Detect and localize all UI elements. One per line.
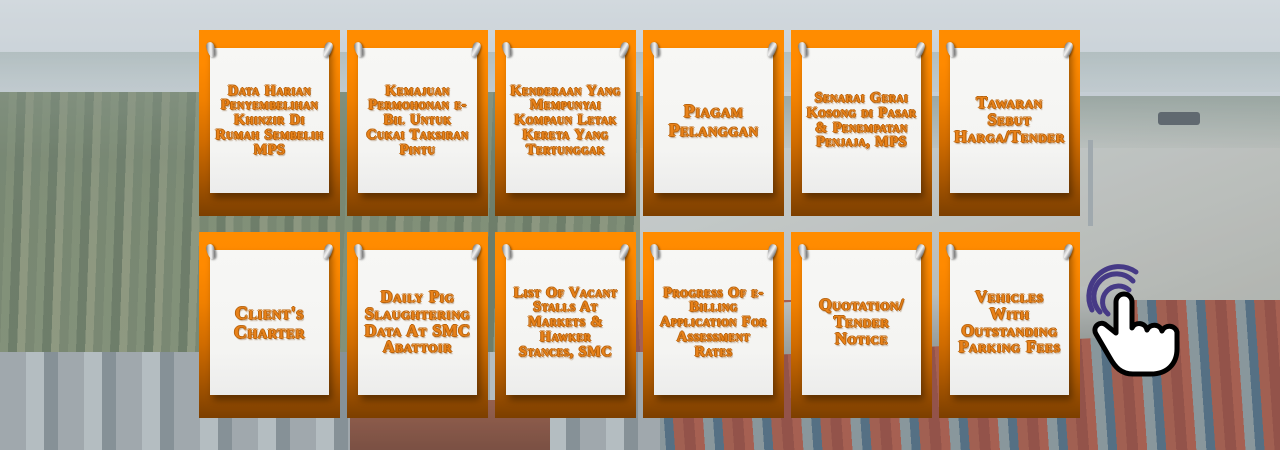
- service-card-data-harian-penyembelihan[interactable]: Data Harian Penyembelihan Khinzir Di Rum…: [199, 30, 340, 216]
- service-card-list-of-vacant-stalls[interactable]: List Of Vacant Stalls At Markets & Hawke…: [495, 232, 636, 418]
- paper-clip-pin-right-icon: [618, 243, 630, 260]
- paper-clip-pin-left-icon: [353, 41, 365, 58]
- card-title: Kenderaan Yang Mempunyai Kompaun Letak K…: [510, 84, 621, 158]
- card-paper[interactable]: List Of Vacant Stalls At Markets & Hawke…: [506, 250, 625, 395]
- card-title: Vehicles With Outstanding Parking Fees: [954, 289, 1065, 356]
- service-card-senarai-gerai-kosong[interactable]: Senarai Gerai Kosong di Pasar & Penempat…: [791, 30, 932, 216]
- paper-clip-pin-right-icon: [322, 243, 334, 260]
- service-card-clients-charter[interactable]: Client's Charter: [199, 232, 340, 418]
- paper-clip-pin-left-icon: [945, 243, 957, 260]
- card-paper[interactable]: Kemajuan Permohonan e-Bil Untuk Cukai Ta…: [358, 48, 477, 193]
- paper-clip-pin-right-icon: [766, 41, 778, 58]
- paper-clip-pin-right-icon: [618, 41, 630, 58]
- paper-clip-pin-right-icon: [766, 243, 778, 260]
- card-paper[interactable]: Tawaran Sebut Harga/Tender: [950, 48, 1069, 193]
- service-card-kenderaan-kompaun-letak-kereta[interactable]: Kenderaan Yang Mempunyai Kompaun Letak K…: [495, 30, 636, 216]
- card-title: Client's Charter: [214, 304, 325, 341]
- card-title: List Of Vacant Stalls At Markets & Hawke…: [510, 286, 621, 360]
- paper-clip-pin-right-icon: [1062, 243, 1074, 260]
- card-paper[interactable]: Quotation/ Tender Notice: [802, 250, 921, 395]
- paper-clip-pin-left-icon: [945, 41, 957, 58]
- card-paper[interactable]: Client's Charter: [210, 250, 329, 395]
- card-title: Quotation/ Tender Notice: [806, 297, 917, 347]
- service-card-tawaran-sebut-harga-tender[interactable]: Tawaran Sebut Harga/Tender: [939, 30, 1080, 216]
- card-paper[interactable]: Progress Of e-Billing Application For As…: [654, 250, 773, 395]
- card-paper[interactable]: Vehicles With Outstanding Parking Fees: [950, 250, 1069, 395]
- paper-clip-pin-right-icon: [322, 41, 334, 58]
- card-title: Kemajuan Permohonan e-Bil Untuk Cukai Ta…: [362, 84, 473, 158]
- paper-clip-pin-left-icon: [205, 243, 217, 260]
- card-title: Tawaran Sebut Harga/Tender: [954, 95, 1065, 145]
- card-paper[interactable]: Data Harian Penyembelihan Khinzir Di Rum…: [210, 48, 329, 193]
- service-card-daily-pig-slaughtering-data[interactable]: Daily Pig Slaughtering Data At SMC Abatt…: [347, 232, 488, 418]
- paper-clip-pin-left-icon: [649, 243, 661, 260]
- service-card-progress-of-e-billing[interactable]: Progress Of e-Billing Application For As…: [643, 232, 784, 418]
- card-paper[interactable]: Daily Pig Slaughtering Data At SMC Abatt…: [358, 250, 477, 395]
- card-title: Progress Of e-Billing Application For As…: [658, 286, 769, 360]
- card-paper[interactable]: Piagam Pelanggan: [654, 48, 773, 193]
- paper-clip-pin-left-icon: [501, 243, 513, 260]
- card-title: Data Harian Penyembelihan Khinzir Di Rum…: [214, 84, 325, 158]
- paper-clip-pin-left-icon: [797, 41, 809, 58]
- service-card-quotation-tender-notice[interactable]: Quotation/ Tender Notice: [791, 232, 932, 418]
- paper-clip-pin-right-icon: [914, 41, 926, 58]
- service-card-vehicles-outstanding-parking-fees[interactable]: Vehicles With Outstanding Parking Fees: [939, 232, 1080, 418]
- service-card-piagam-pelanggan[interactable]: Piagam Pelanggan: [643, 30, 784, 216]
- paper-clip-pin-left-icon: [353, 243, 365, 260]
- card-paper[interactable]: Kenderaan Yang Mempunyai Kompaun Letak K…: [506, 48, 625, 193]
- paper-clip-pin-right-icon: [914, 243, 926, 260]
- service-card-grid: Data Harian Penyembelihan Khinzir Di Rum…: [199, 30, 1080, 418]
- card-paper[interactable]: Senarai Gerai Kosong di Pasar & Penempat…: [802, 48, 921, 193]
- paper-clip-pin-right-icon: [470, 243, 482, 260]
- card-title: Daily Pig Slaughtering Data At SMC Abatt…: [362, 289, 473, 356]
- paper-clip-pin-left-icon: [501, 41, 513, 58]
- paper-clip-pin-left-icon: [649, 41, 661, 58]
- card-title: Piagam Pelanggan: [658, 102, 769, 139]
- paper-clip-pin-right-icon: [1062, 41, 1074, 58]
- service-card-kemajuan-permohonan-e-bil[interactable]: Kemajuan Permohonan e-Bil Untuk Cukai Ta…: [347, 30, 488, 216]
- paper-clip-pin-left-icon: [797, 243, 809, 260]
- card-title: Senarai Gerai Kosong di Pasar & Penempat…: [806, 91, 917, 150]
- paper-clip-pin-right-icon: [470, 41, 482, 58]
- paper-clip-pin-left-icon: [205, 41, 217, 58]
- app-stage: Data Harian Penyembelihan Khinzir Di Rum…: [0, 0, 1280, 450]
